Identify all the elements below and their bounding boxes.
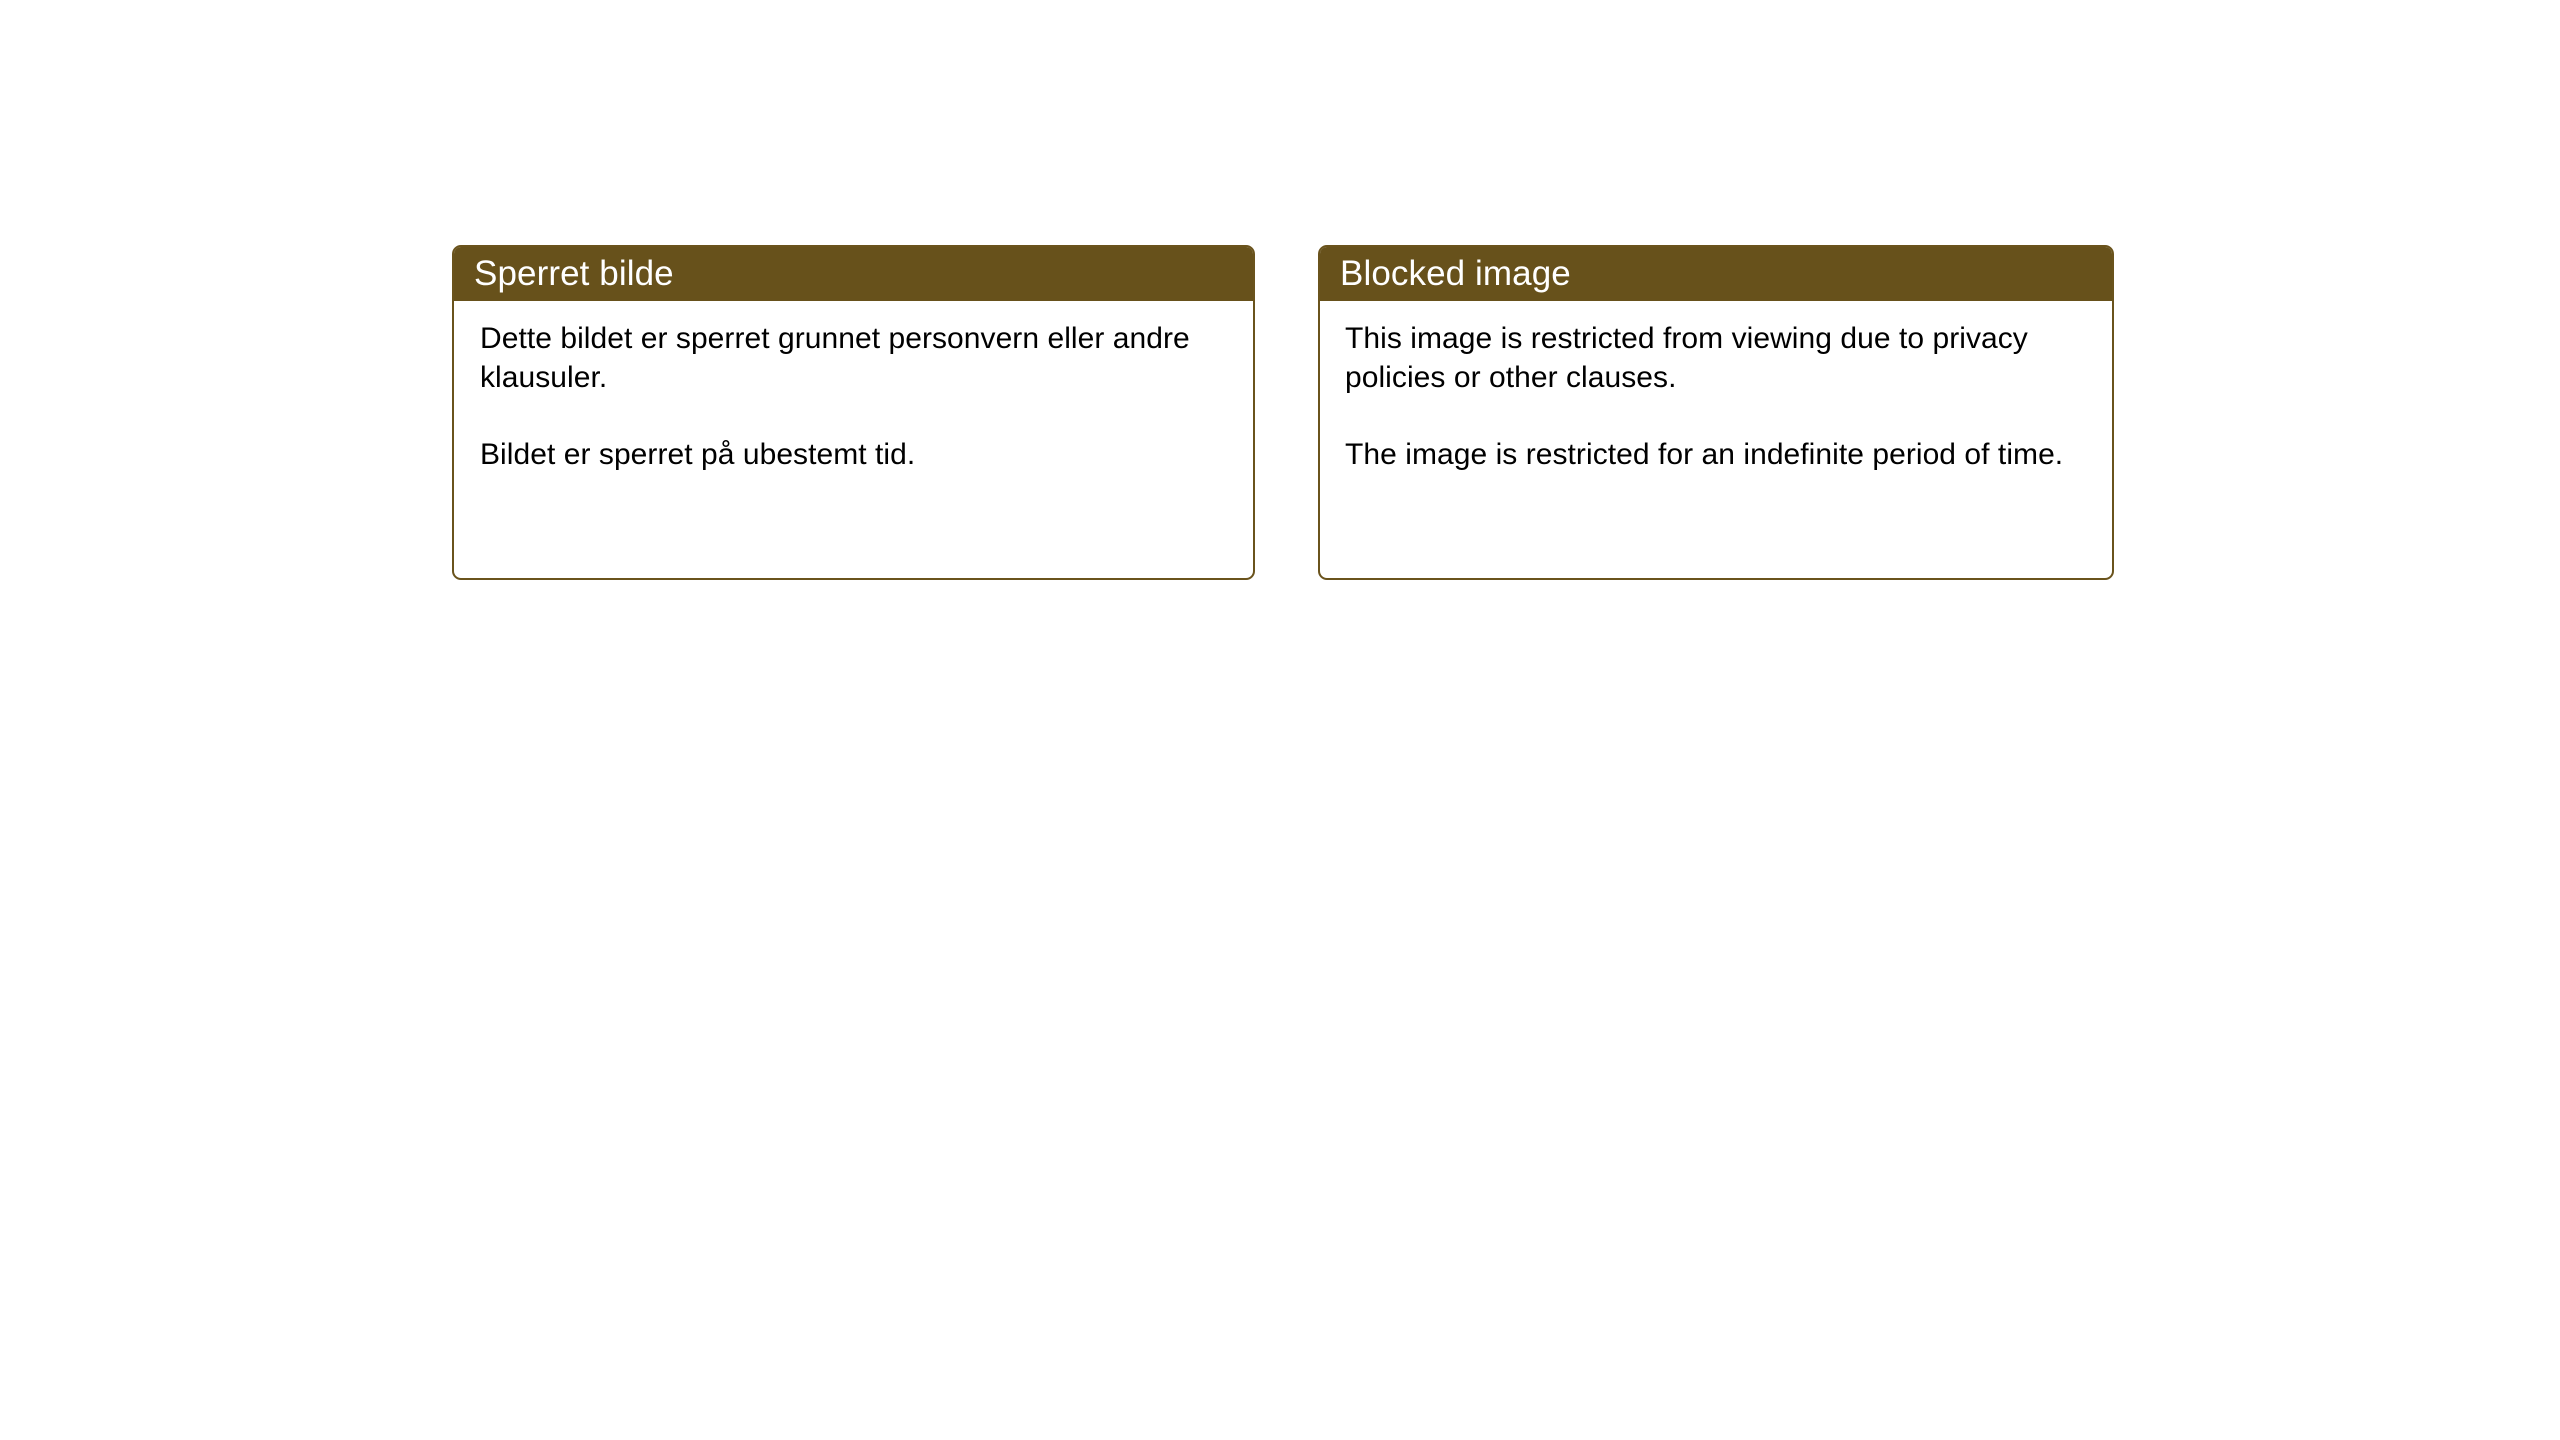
card-body-english: This image is restricted from viewing du…: [1320, 301, 2112, 474]
card-title-norwegian: Sperret bilde: [474, 256, 674, 291]
blocked-image-card-norwegian: Sperret bilde Dette bildet er sperret gr…: [452, 245, 1255, 580]
blocked-image-card-english: Blocked image This image is restricted f…: [1318, 245, 2114, 580]
card-paragraph-reason-norwegian: Dette bildet er sperret grunnet personve…: [480, 319, 1233, 397]
card-body-norwegian: Dette bildet er sperret grunnet personve…: [454, 301, 1253, 474]
card-paragraph-reason-english: This image is restricted from viewing du…: [1345, 319, 2092, 397]
blocked-image-notice-stage: Sperret bilde Dette bildet er sperret gr…: [0, 0, 2560, 1440]
card-paragraph-duration-english: The image is restricted for an indefinit…: [1345, 435, 2092, 474]
card-title-english: Blocked image: [1340, 256, 1571, 291]
card-paragraph-duration-norwegian: Bildet er sperret på ubestemt tid.: [480, 435, 1233, 474]
card-header-norwegian: Sperret bilde: [452, 245, 1255, 301]
card-header-english: Blocked image: [1318, 245, 2114, 301]
